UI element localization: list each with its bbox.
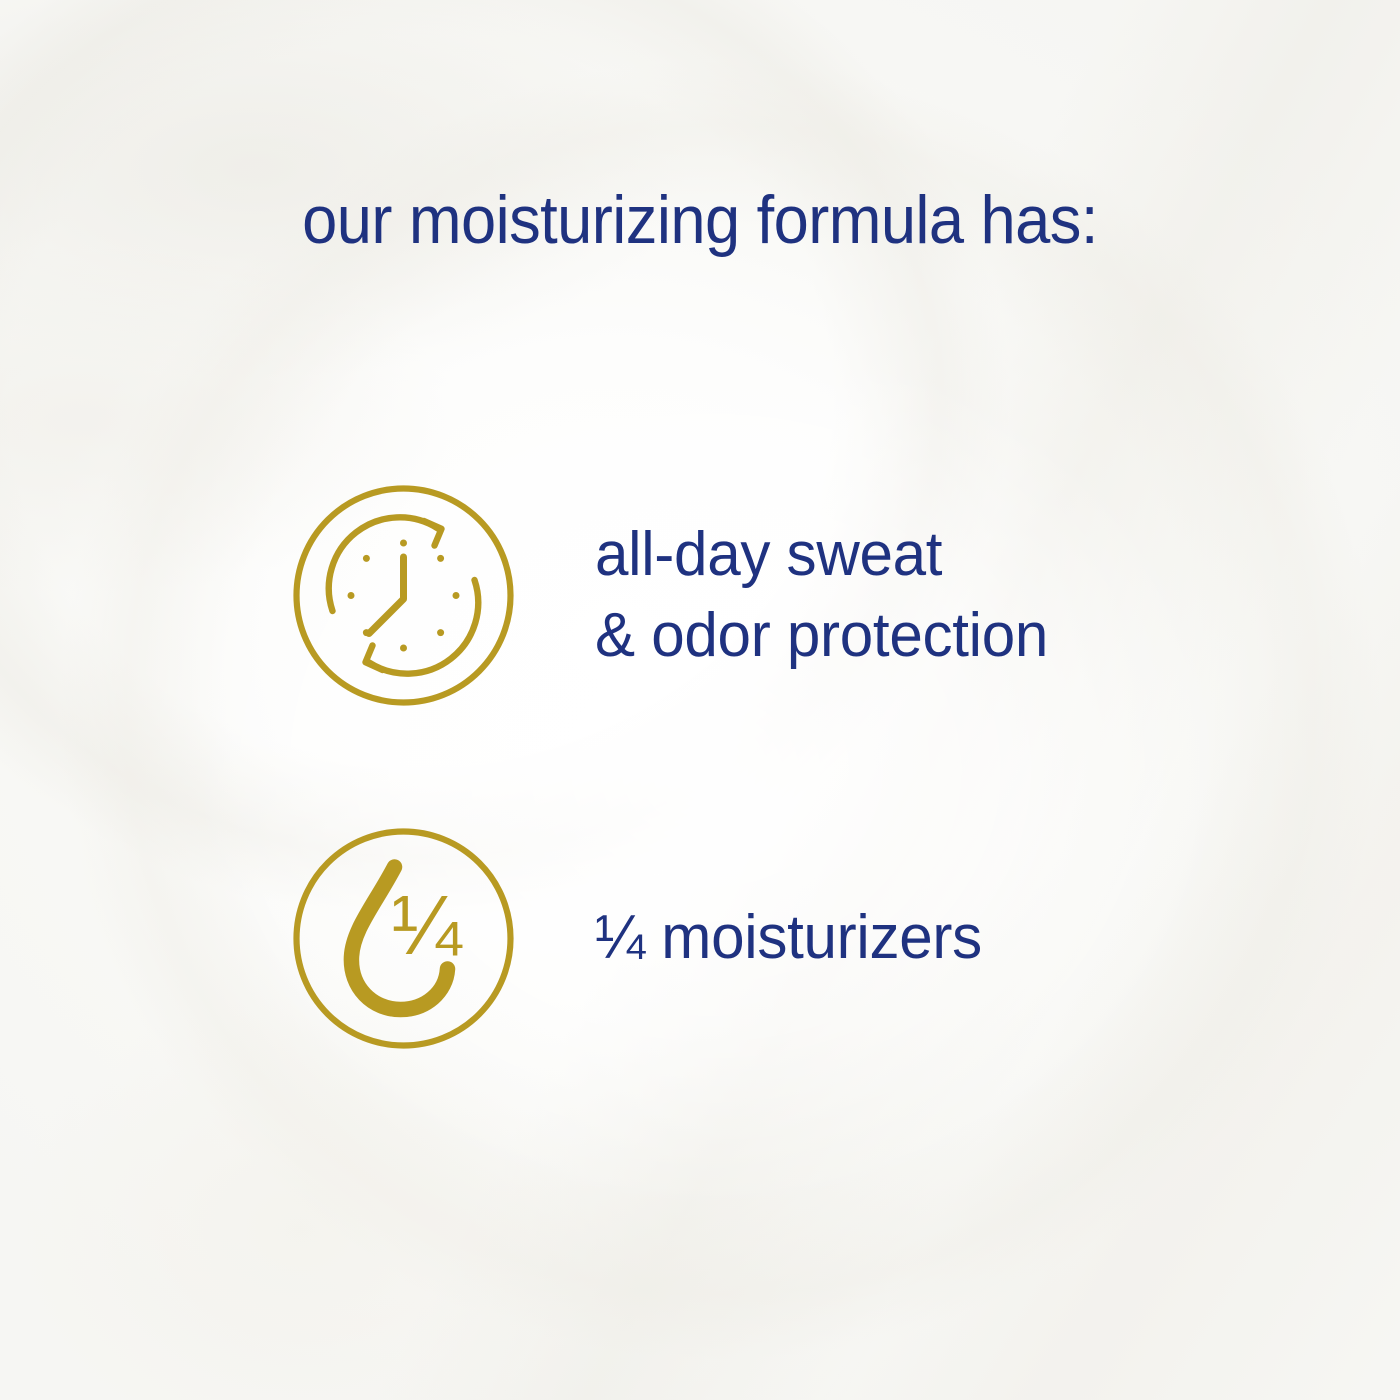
- feature-row-all-day-protection: all-day sweat & odor protection: [291, 483, 1062, 708]
- product-claims-panel: our moisturizing formula has:: [0, 0, 1400, 1400]
- feature-label-all-day-protection: all-day sweat & odor protection: [595, 515, 1048, 676]
- content-layer: our moisturizing formula has:: [0, 0, 1400, 1400]
- droplet-fraction-label: ¼: [391, 878, 462, 972]
- droplet-quarter-icon: ¼: [291, 826, 516, 1051]
- feature-label-moisturizers: ¼ moisturizers: [595, 898, 982, 979]
- clock-refresh-icon: [291, 483, 516, 708]
- page-title: our moisturizing formula has:: [49, 186, 1351, 254]
- feature-row-moisturizers: ¼ ¼ moisturizers: [291, 826, 994, 1051]
